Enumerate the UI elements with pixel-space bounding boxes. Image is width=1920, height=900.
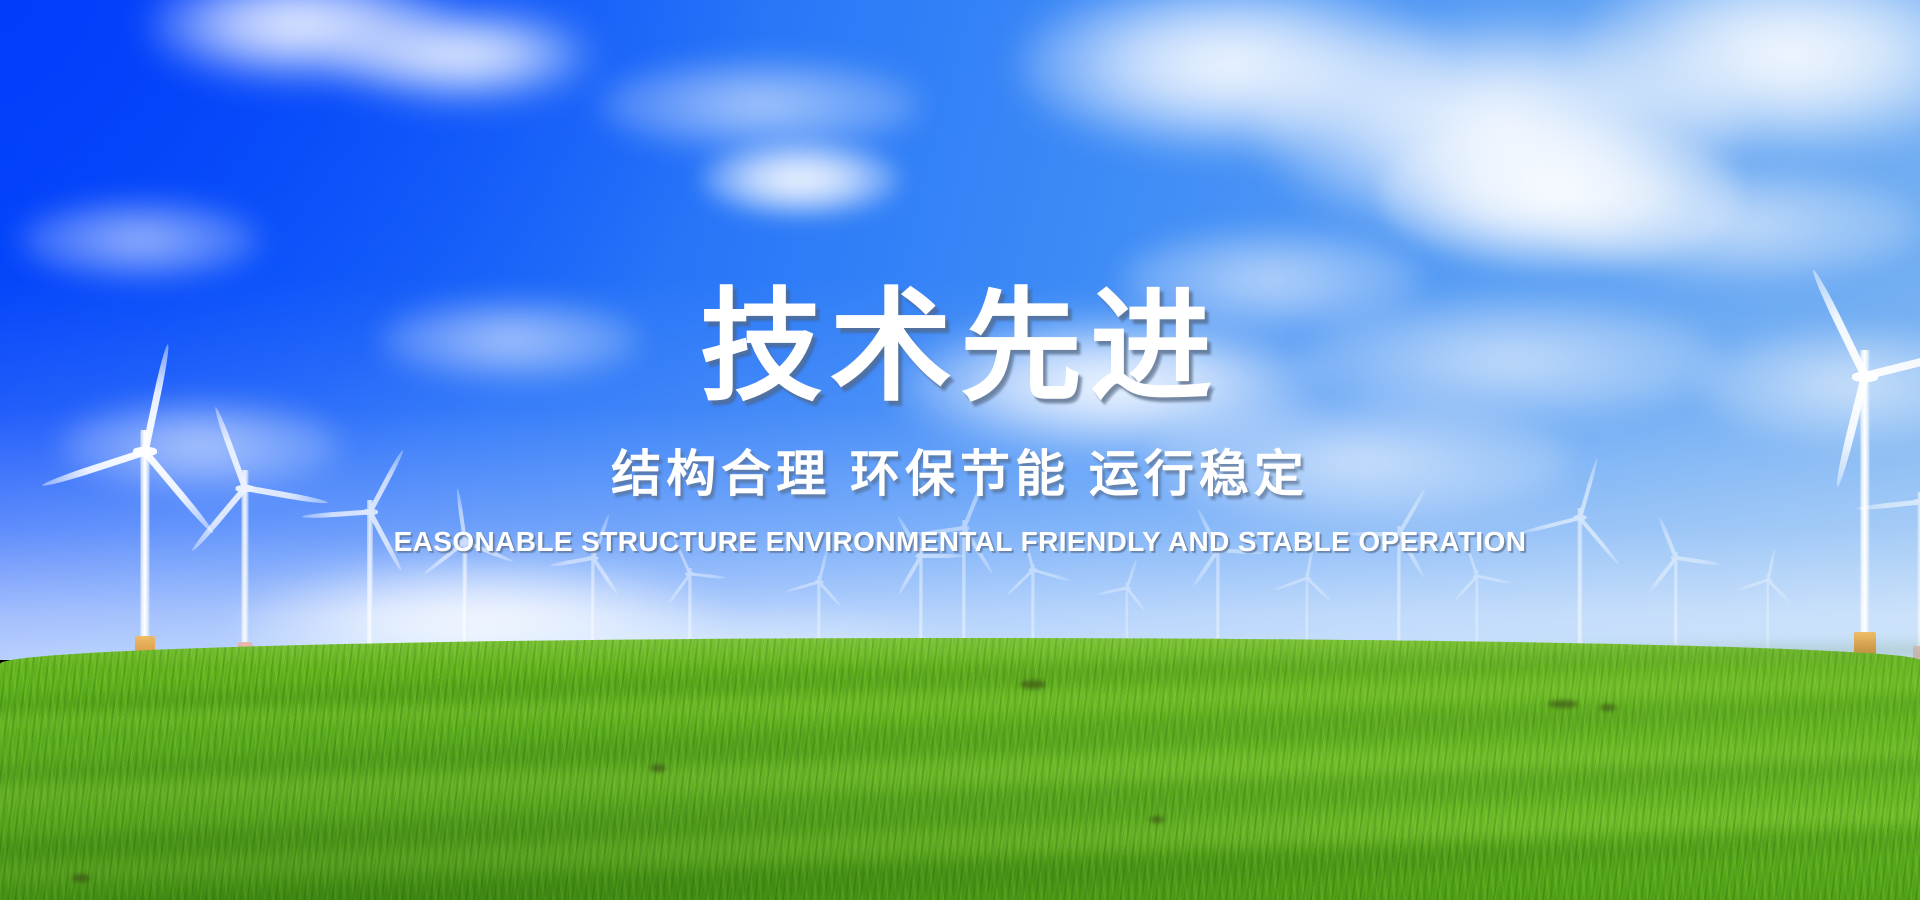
wind-turbine-field (0, 0, 1920, 660)
wind-turbine (85, 430, 205, 660)
wind-turbine (200, 470, 290, 660)
wind-turbine (330, 500, 410, 660)
wind-turbine (1545, 508, 1615, 660)
grass-shading (0, 638, 1920, 900)
wind-turbine (1885, 492, 1920, 660)
hero-banner: 技术先进 结构合理 环保节能 运行稳定 EASONABLE STRUCTURE … (0, 0, 1920, 900)
grass-field (0, 638, 1920, 900)
wind-turbine (1645, 552, 1707, 660)
